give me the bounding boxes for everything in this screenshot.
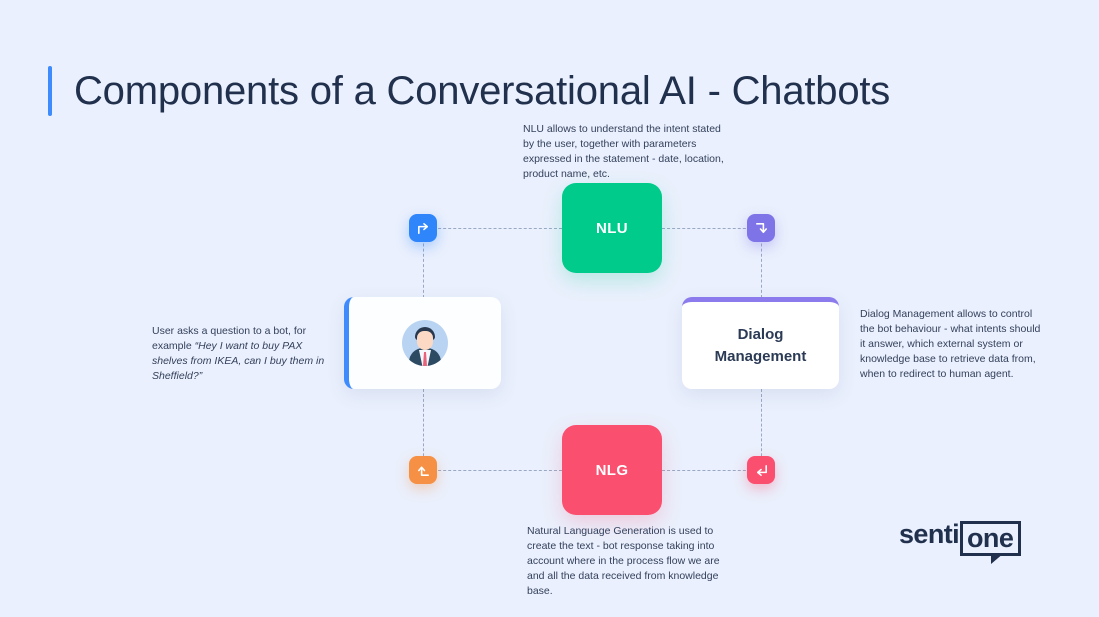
slide-canvas: Components of a Conversational AI - Chat… [0,0,1099,617]
description-nlg: Natural Language Generation is used to c… [527,524,727,599]
logo-text-senti: senti [899,521,959,548]
description-dialog-management: Dialog Management allows to control the … [860,307,1044,382]
logo-text-one: one [967,525,1013,552]
user-avatar-icon [402,320,448,366]
node-nlu-label: NLU [596,220,628,237]
node-dialog-label-line2: Management [715,348,807,365]
node-dialog-label-line1: Dialog [738,326,784,343]
arrow-turn-right-icon[interactable] [409,214,437,242]
node-nlu[interactable]: NLU [562,183,662,273]
node-user-card[interactable] [344,297,501,389]
connector-nlg-to-user [423,470,562,471]
arrow-turn-left-icon[interactable] [747,456,775,484]
page-title: Components of a Conversational AI - Chat… [48,66,890,116]
title-text: Components of a Conversational AI - Chat… [74,70,890,112]
logo-bubble-tail [991,553,1004,564]
arrow-turn-up-icon[interactable] [409,456,437,484]
description-nlu: NLU allows to understand the intent stat… [523,122,728,182]
connector-user-to-nlu [423,228,562,229]
title-accent-bar [48,66,52,116]
sentione-logo: senti one [899,521,1021,556]
description-user: User asks a question to a bot, for examp… [152,324,330,384]
logo-speech-bubble-icon: one [960,521,1021,556]
node-nlg[interactable]: NLG [562,425,662,515]
arrow-turn-down-icon[interactable] [747,214,775,242]
node-dialog-label: Dialog Management [715,324,807,368]
node-nlg-label: NLG [596,462,629,479]
node-dialog-management[interactable]: Dialog Management [682,297,839,389]
avatar-face [417,331,433,350]
